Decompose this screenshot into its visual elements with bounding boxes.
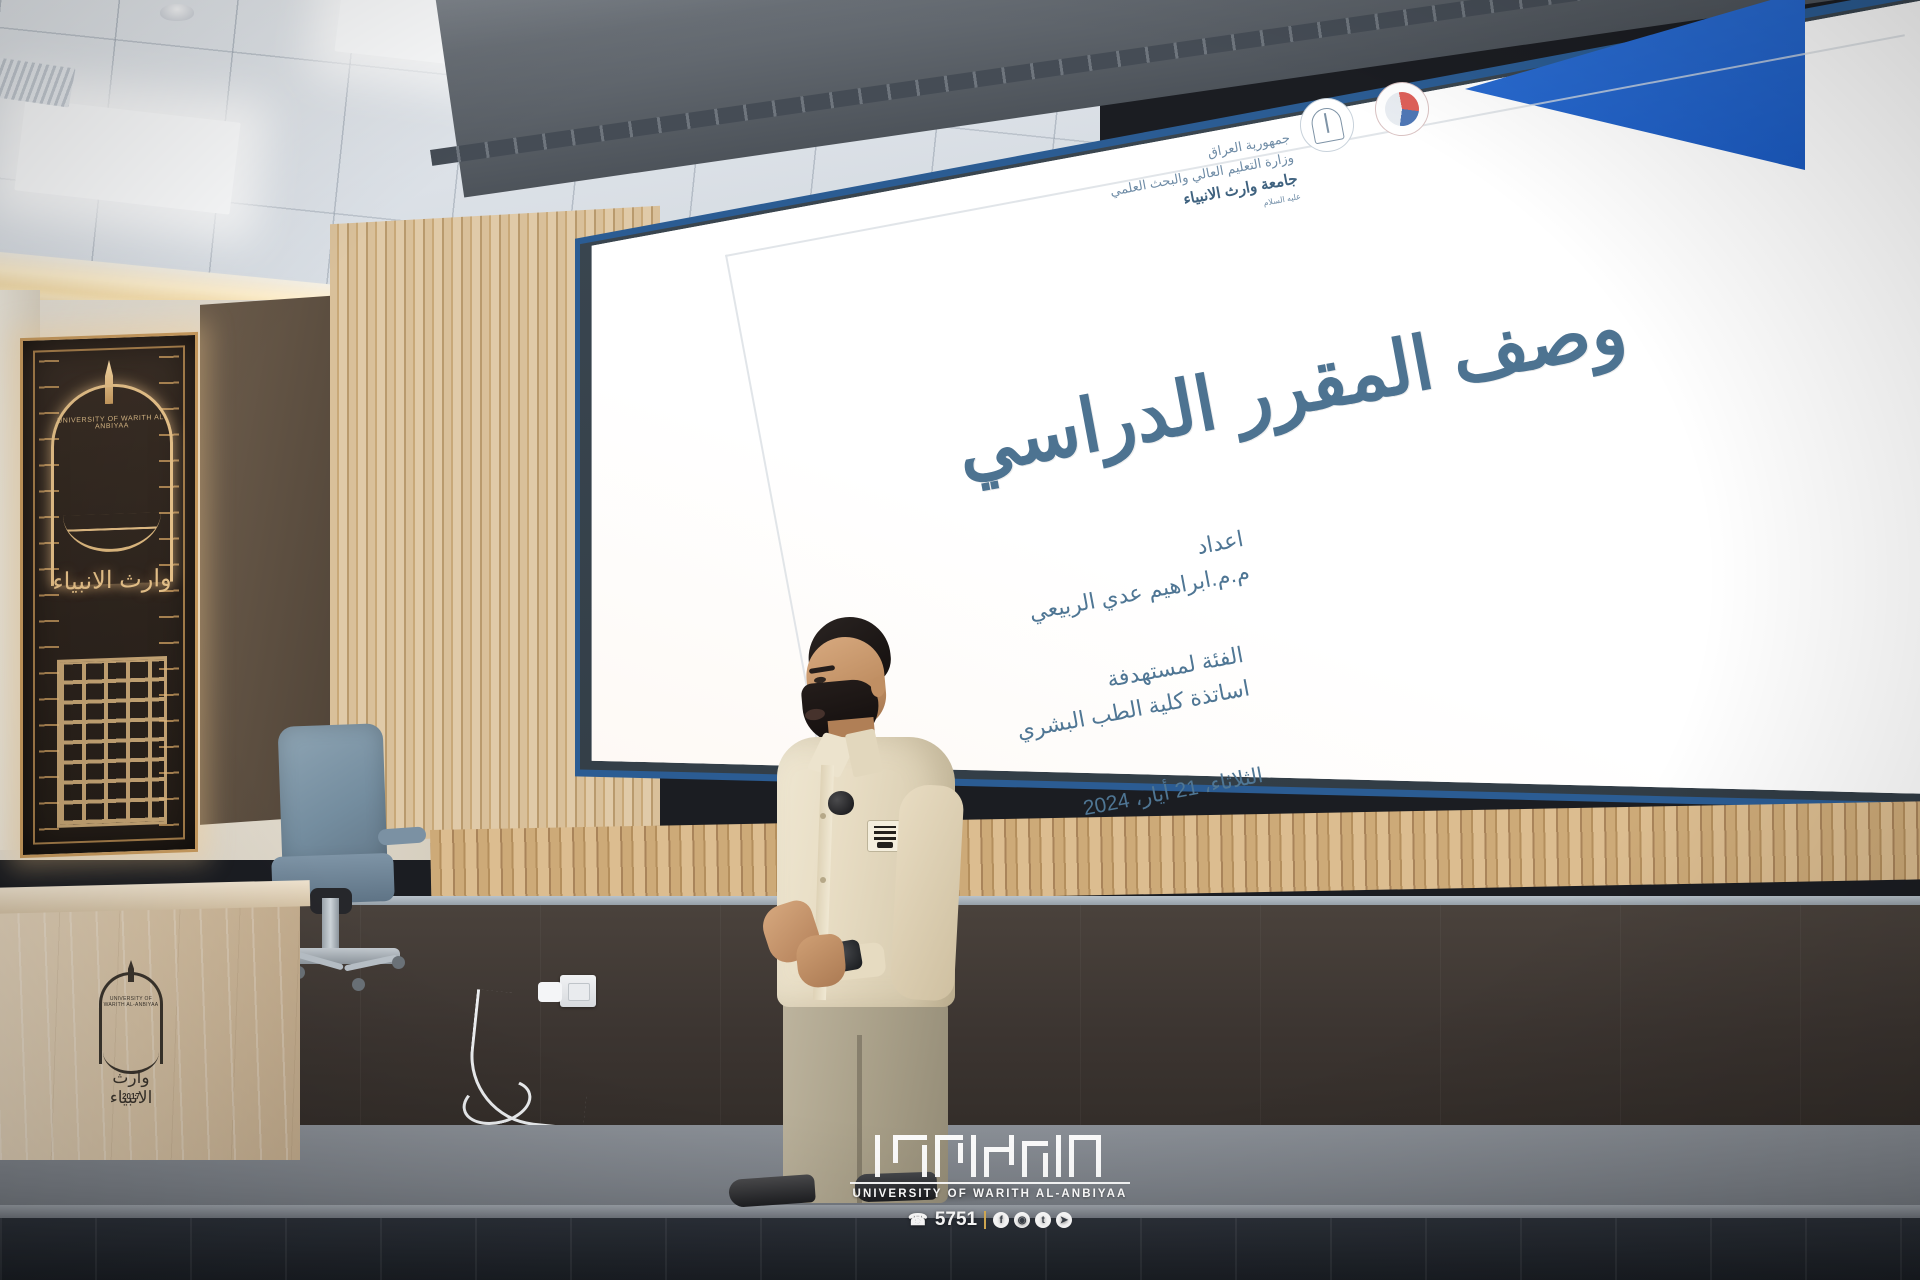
smoke-detector-icon xyxy=(160,4,194,21)
presenter-ear xyxy=(871,677,885,697)
office-chair-caster xyxy=(352,978,365,991)
presenter-shirt-button xyxy=(820,877,826,883)
presenter-right-arm xyxy=(889,783,964,1001)
presenter-shirt-button xyxy=(820,813,826,819)
warith-al-anbiyaa-kufic-logo xyxy=(875,1135,1105,1177)
watermark: UNIVERSITY OF WARITH AL-ANBIYAA ☎ 5751 f… xyxy=(850,1135,1130,1231)
lecture-hall-photo: UNIVERSITY OF WARITH AL-ANBIYAA وارث الا… xyxy=(0,0,1920,1280)
presenter-shoe-left xyxy=(728,1174,816,1208)
instagram-icon[interactable]: ◉ xyxy=(1014,1212,1030,1228)
office-chair-caster xyxy=(392,956,405,969)
presenter-right-hand xyxy=(794,933,847,990)
presenter xyxy=(745,615,1015,1195)
seal-glyph-icon xyxy=(1309,106,1345,145)
office-chair-armrest xyxy=(378,826,427,845)
facebook-icon[interactable]: f xyxy=(993,1212,1009,1228)
lapel-microphone-icon xyxy=(828,791,854,815)
podium-emblem-arch-text: UNIVERSITY OF WARITH AL-ANBIYAA xyxy=(101,996,161,1008)
podium-emblem-year: 2017 xyxy=(93,1092,169,1101)
podium-emblem-arch-icon xyxy=(99,972,163,1064)
illuminated-wall-emblem: UNIVERSITY OF WARITH AL-ANBIYAA وارث الا… xyxy=(20,332,198,858)
emblem-kufic-panel xyxy=(57,656,167,828)
ministry-glyph-icon xyxy=(1382,89,1422,129)
watermark-social-icons: f ◉ t ➤ xyxy=(993,1212,1072,1228)
podium-emblem-arabic: وارث الانبياء xyxy=(93,1068,169,1108)
twitter-icon[interactable]: t xyxy=(1035,1212,1051,1228)
phone-icon: ☎ xyxy=(908,1210,928,1230)
watermark-contact-row: ☎ 5751 f ◉ t ➤ xyxy=(850,1209,1130,1231)
podium-emblem: UNIVERSITY OF WARITH AL-ANBIYAA وارث الا… xyxy=(85,960,177,1120)
emblem-arch-icon xyxy=(51,382,173,586)
watermark-divider xyxy=(984,1211,986,1229)
office-chair-backrest xyxy=(278,723,388,867)
telegram-icon[interactable]: ➤ xyxy=(1056,1212,1072,1228)
watermark-phone: 5751 xyxy=(935,1209,977,1231)
watermark-subtitle: UNIVERSITY OF WARITH AL-ANBIYAA xyxy=(850,1182,1130,1200)
shirt-chest-badge xyxy=(867,820,901,852)
emblem-arabic-text: وارث الانبياء xyxy=(49,566,175,597)
